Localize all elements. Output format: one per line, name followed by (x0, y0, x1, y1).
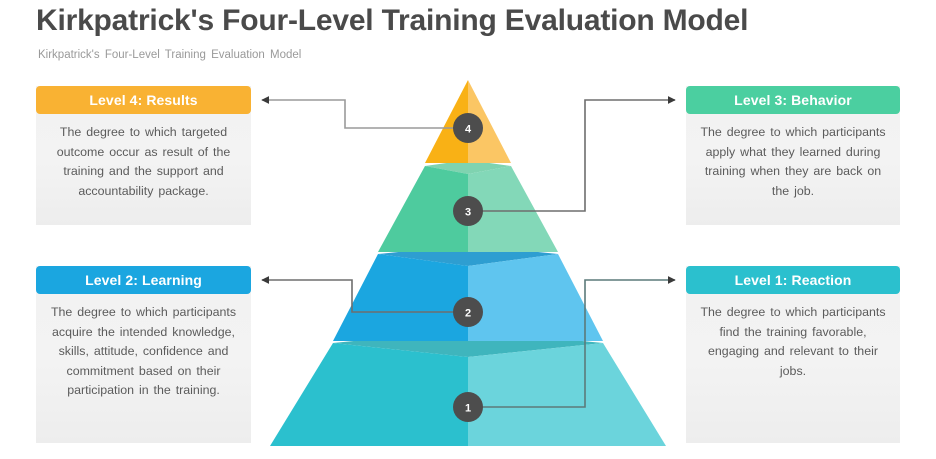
card-level3[interactable]: Level 3: Behavior The degree to which pa… (686, 86, 900, 225)
card-level1-header: Level 1: Reaction (686, 266, 900, 294)
card-level3-body: The degree to which participants apply w… (686, 114, 900, 201)
badge-level1-label: 1 (465, 403, 471, 415)
card-level4-header: Level 4: Results (36, 86, 251, 114)
badge-level3-label: 3 (465, 207, 471, 219)
card-level1-body: The degree to which participants find th… (686, 294, 900, 381)
badge-level2-label: 2 (465, 308, 471, 320)
card-level2[interactable]: Level 2: Learning The degree to which pa… (36, 266, 251, 443)
card-level1[interactable]: Level 1: Reaction The degree to which pa… (686, 266, 900, 443)
badge-level4: 4 (453, 113, 483, 143)
badge-level2: 2 (453, 297, 483, 327)
card-level2-header: Level 2: Learning (36, 266, 251, 294)
infographic-canvas: Kirkpatrick's Four-Level Training Evalua… (0, 0, 936, 459)
badge-level4-label: 4 (465, 124, 472, 136)
card-level4[interactable]: Level 4: Results The degree to which tar… (36, 86, 251, 225)
card-level2-body: The degree to which participants acquire… (36, 294, 251, 401)
badge-level3: 3 (453, 196, 483, 226)
badge-level1: 1 (453, 392, 483, 422)
connector-level2 (262, 280, 468, 312)
connector-level1 (468, 280, 675, 407)
connector-level3 (468, 100, 675, 211)
card-level4-body: The degree to which targeted outcome occ… (36, 114, 251, 201)
card-level3-header: Level 3: Behavior (686, 86, 900, 114)
connector-level4 (262, 100, 468, 128)
